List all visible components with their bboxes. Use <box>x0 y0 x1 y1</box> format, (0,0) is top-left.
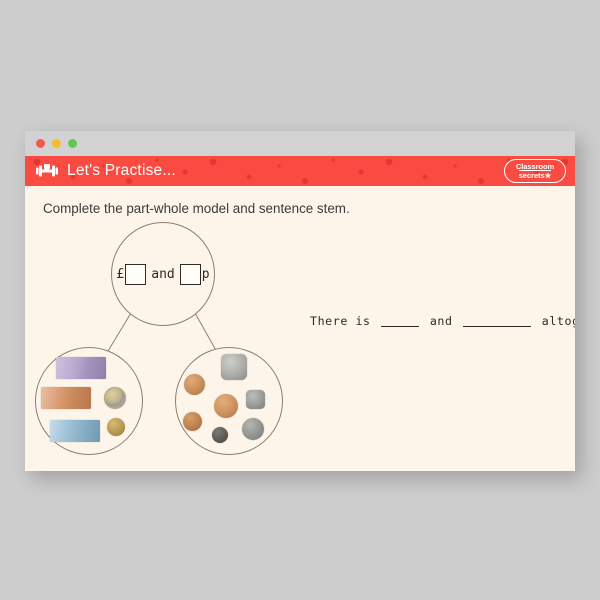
coin-10p <box>242 418 264 440</box>
sentence-prefix: There is <box>310 314 371 328</box>
minimize-button[interactable] <box>52 139 61 148</box>
coin-2-pound <box>104 387 126 409</box>
note-10-pound <box>41 387 91 409</box>
sentence-blank-2[interactable] <box>463 326 531 327</box>
sentence-blank-1[interactable] <box>381 326 419 327</box>
brand-name-line1: Classroom <box>516 163 554 171</box>
sentence-stem: There is and altogether. <box>310 314 575 328</box>
part-circle-coins <box>175 347 283 455</box>
part-circle-notes <box>35 347 143 455</box>
banner-title: Let's Practise... <box>67 162 176 180</box>
coin-1-pound <box>107 418 125 436</box>
coin-20p <box>246 390 265 409</box>
whole-conjunction: and <box>151 267 174 282</box>
brand-name-line2: secrets★ <box>519 170 552 179</box>
coin-50p <box>221 354 247 380</box>
part-whole-model: £ and p <box>30 222 300 467</box>
dumbbell-icon <box>36 162 58 180</box>
pounds-answer-box[interactable] <box>125 264 146 285</box>
app-window: Let's Practise... Classroom secrets★ Com… <box>25 131 575 471</box>
sentence-conjunction: and <box>430 314 453 328</box>
instruction-text: Complete the part-whole model and senten… <box>43 201 350 216</box>
slide-content: Complete the part-whole model and senten… <box>25 186 575 471</box>
coin-1p <box>183 412 202 431</box>
coin-2p-left <box>184 374 205 395</box>
coin-5p <box>212 427 228 443</box>
pence-symbol: p <box>202 267 210 282</box>
lesson-banner: Let's Practise... Classroom secrets★ <box>25 156 575 186</box>
note-5-pound <box>50 420 100 442</box>
pound-symbol: £ <box>116 267 124 282</box>
classroom-secrets-logo: Classroom secrets★ <box>504 159 566 183</box>
pence-answer-box[interactable] <box>180 264 201 285</box>
sentence-suffix: altogether. <box>542 314 575 328</box>
close-button[interactable] <box>36 139 45 148</box>
coin-2p-center <box>214 394 238 418</box>
note-20-pound <box>56 357 106 379</box>
whole-answer-row: £ and p <box>116 264 209 285</box>
whole-circle: £ and p <box>111 222 215 326</box>
maximize-button[interactable] <box>68 139 77 148</box>
window-title-bar <box>25 131 575 156</box>
